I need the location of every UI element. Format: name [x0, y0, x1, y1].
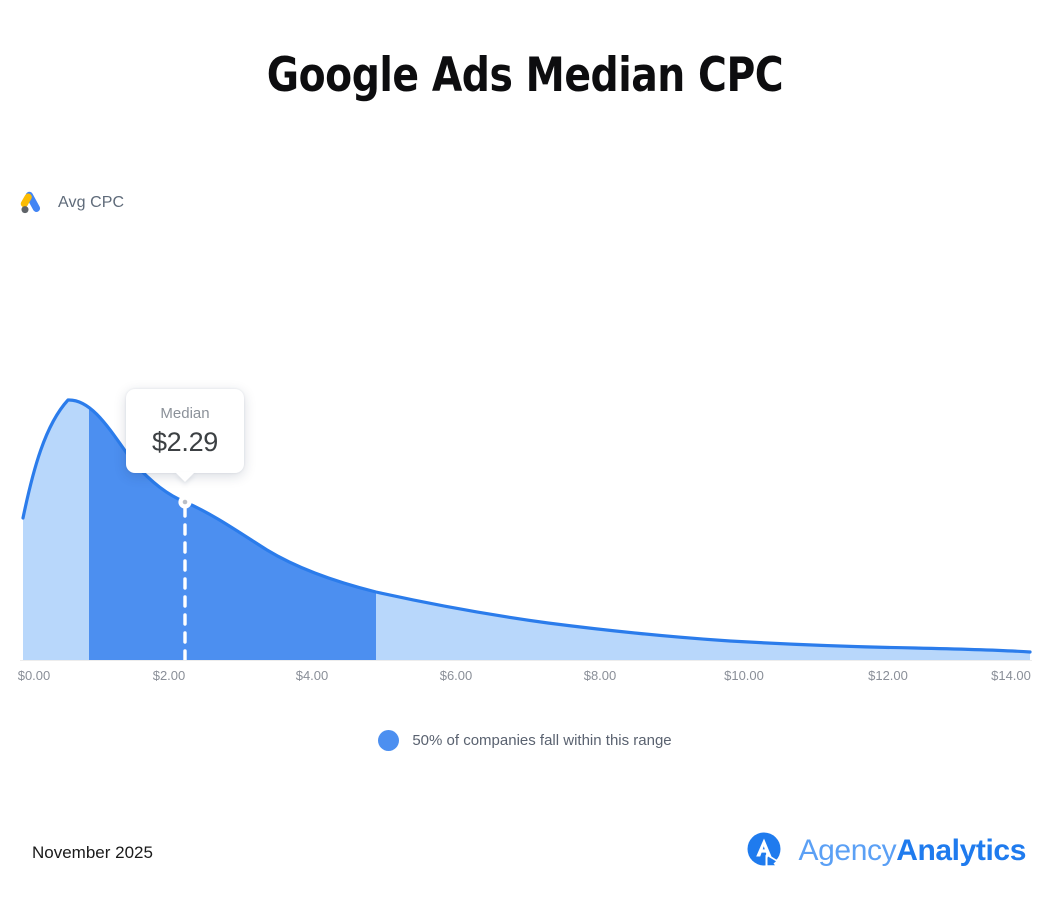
- range-legend-marker-icon: [378, 730, 399, 751]
- x-axis-tick: $10.00: [724, 668, 764, 683]
- x-axis-tick: $4.00: [296, 668, 329, 683]
- cpc-distribution-chart: [0, 0, 1050, 700]
- median-tooltip: Median $2.29: [126, 389, 244, 473]
- brand-logo: AgencyAnalytics: [742, 828, 1026, 874]
- x-axis-tick: $14.00: [991, 668, 1031, 683]
- range-legend-label: 50% of companies fall within this range: [412, 732, 671, 749]
- range-legend: 50% of companies fall within this range: [0, 730, 1050, 751]
- brand-wordmark-light: Agency: [799, 834, 897, 867]
- x-axis-tick: $2.00: [153, 668, 186, 683]
- x-axis: $0.00 $2.00 $4.00 $6.00 $8.00 $10.00 $12…: [0, 668, 1050, 690]
- brand-wordmark: AgencyAnalytics: [799, 836, 1026, 866]
- brand-wordmark-bold: Analytics: [896, 834, 1026, 867]
- chart-area: Median $2.29: [0, 0, 1050, 700]
- x-axis-tick: $8.00: [584, 668, 617, 683]
- median-tooltip-value: $2.29: [152, 427, 218, 458]
- x-axis-tick: $12.00: [868, 668, 908, 683]
- agencyanalytics-logo-icon: [742, 828, 788, 874]
- median-point-core: [183, 500, 188, 505]
- x-axis-tick: $6.00: [440, 668, 473, 683]
- x-axis-tick: $0.00: [18, 668, 51, 683]
- median-tooltip-label: Median: [160, 405, 209, 422]
- footer-date: November 2025: [32, 843, 153, 863]
